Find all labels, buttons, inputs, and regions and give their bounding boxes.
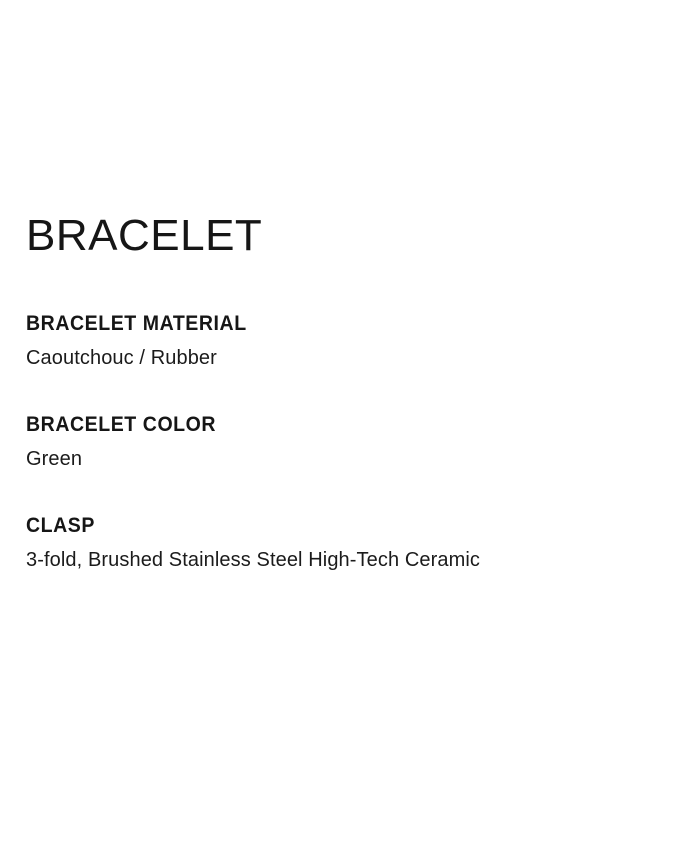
spec-value-clasp: 3-fold, Brushed Stainless Steel High-Tec… — [26, 547, 674, 573]
spec-list: BRACELET MATERIAL Caoutchouc / Rubber BR… — [26, 312, 674, 573]
spec-label-bracelet-color: BRACELET COLOR — [26, 413, 629, 437]
spec-value-bracelet-material: Caoutchouc / Rubber — [26, 345, 674, 371]
spec-item-bracelet-color: BRACELET COLOR Green — [26, 413, 674, 472]
spec-label-bracelet-material: BRACELET MATERIAL — [26, 312, 629, 336]
page-title: BRACELET — [26, 213, 262, 259]
spec-item-clasp: CLASP 3-fold, Brushed Stainless Steel Hi… — [26, 514, 674, 573]
spec-value-bracelet-color: Green — [26, 446, 674, 472]
spec-label-clasp: CLASP — [26, 514, 629, 538]
bracelet-spec-panel: BRACELET BRACELET MATERIAL Caoutchouc / … — [0, 0, 700, 850]
spec-item-bracelet-material: BRACELET MATERIAL Caoutchouc / Rubber — [26, 312, 674, 371]
